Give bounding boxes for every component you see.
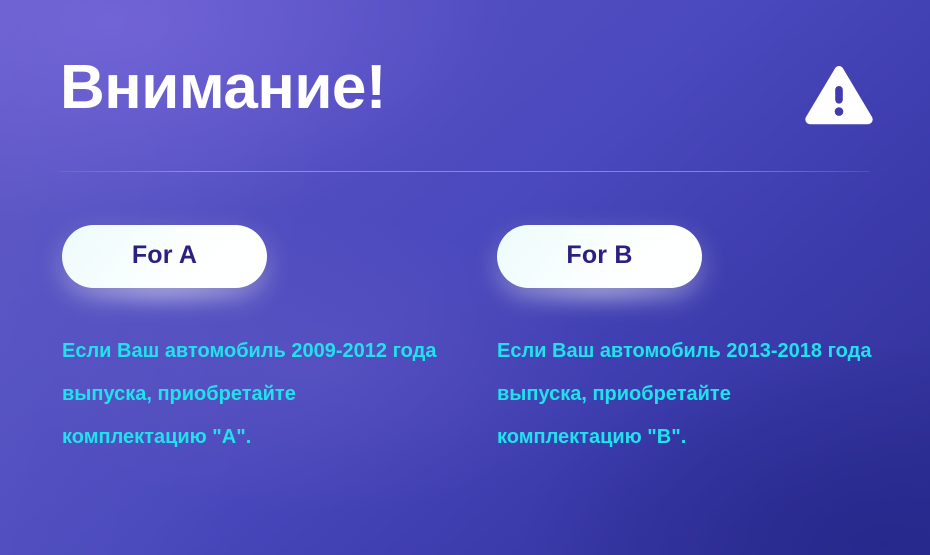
option-b-description: Если Ваш автомобиль 2013-2018 года выпус… [497, 330, 877, 459]
for-a-button-wrap: For A [62, 225, 267, 288]
warning-banner: Внимание! For A Если Ваш автомобиль 2009… [0, 0, 930, 555]
page-title: Внимание! [60, 57, 386, 119]
header-divider [60, 171, 870, 172]
for-b-button-label: For B [566, 241, 632, 270]
option-column-b: For B Если Ваш автомобиль 2013-2018 года… [497, 225, 917, 459]
for-a-button-label: For A [132, 241, 197, 270]
option-a-description: Если Ваш автомобиль 2009-2012 года выпус… [62, 330, 442, 459]
warning-triangle-icon [803, 64, 875, 128]
for-b-button[interactable]: For B [497, 225, 702, 288]
for-a-button[interactable]: For A [62, 225, 267, 288]
for-b-button-wrap: For B [497, 225, 702, 288]
option-column-a: For A Если Ваш автомобиль 2009-2012 года… [62, 225, 482, 459]
